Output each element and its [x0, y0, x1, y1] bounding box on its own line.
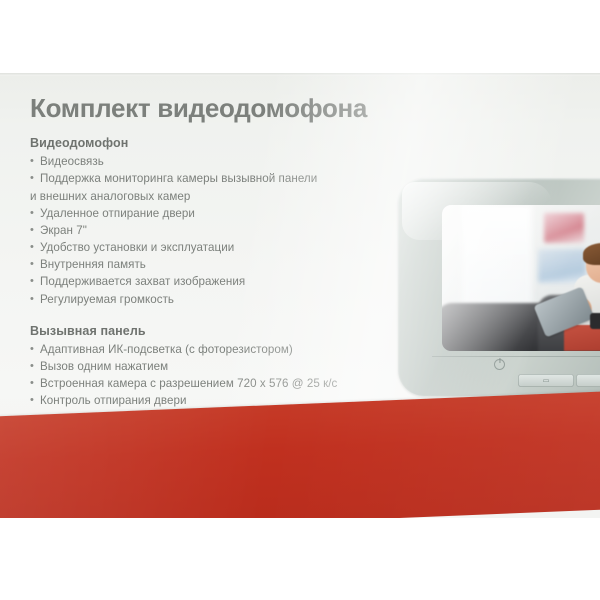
section-vyzyvnaya-panel: Вызывная панель Адаптивная ИК-подсветка …: [30, 324, 390, 410]
list-item: Удобство установки и эксплуатации: [30, 239, 390, 256]
box-front-panel: Комплект видеодомофона Видеодомофон Виде…: [0, 73, 600, 521]
unlock-icon: ▭: [543, 377, 550, 384]
page-title: Комплект видеодомофона: [30, 95, 390, 122]
list-item-continuation: и внешних аналоговых камер: [30, 188, 390, 205]
photo-background-bottom: [0, 518, 600, 600]
bezel-divider: [432, 356, 600, 357]
monitor-button-row: ▭ ◂: [518, 374, 600, 387]
box-printed-content: Комплект видеодомофона Видеодомофон Виде…: [30, 95, 390, 409]
feature-list-monitor: Видеосвязь Поддержка мониторинга камеры …: [30, 153, 390, 307]
list-item: Экран 7": [30, 222, 390, 239]
list-item: Регулируемая громкость: [30, 291, 390, 308]
scene-wall-picture-top: [544, 213, 584, 243]
list-item: Удаленное отпирание двери: [30, 205, 390, 222]
monitor-button-unlock[interactable]: ▭: [518, 374, 574, 387]
product-box-photograph: Комплект видеодомофона Видеодомофон Виде…: [0, 0, 600, 600]
red-footer-band: [0, 391, 600, 521]
box-top-edge: [0, 73, 600, 76]
monitor-screen: [442, 205, 600, 351]
list-item: Поддерживается захват изображения: [30, 273, 390, 290]
power-icon: [494, 359, 505, 370]
list-item: Адаптивная ИК-подсветка (с фоторезисторо…: [30, 341, 390, 358]
list-item: Внутренняя память: [30, 256, 390, 273]
section-videodomofon: Видеодомофон Видеосвязь Поддержка монито…: [30, 136, 390, 307]
scene-window: [462, 205, 532, 315]
list-item: Видеосвязь: [30, 153, 390, 170]
section-spacer: [30, 308, 390, 324]
indoor-monitor-illustration: ▭ ◂ H: [398, 178, 600, 396]
photo-background-top: [0, 0, 600, 73]
list-item: Вызов одним нажатием: [30, 358, 390, 375]
list-item: Встроенная камера с разрешением 720 x 57…: [30, 375, 390, 392]
remote-control: [590, 313, 600, 329]
feature-list-door-station: Адаптивная ИК-подсветка (с фоторезисторо…: [30, 341, 390, 410]
red-band-sheen: [0, 391, 600, 521]
list-item: Поддержка мониторинга камеры вызывной па…: [30, 170, 390, 187]
monitor-button-talk[interactable]: ◂: [576, 374, 600, 387]
section-heading: Вызывная панель: [30, 324, 390, 338]
section-heading: Видеодомофон: [30, 136, 390, 150]
